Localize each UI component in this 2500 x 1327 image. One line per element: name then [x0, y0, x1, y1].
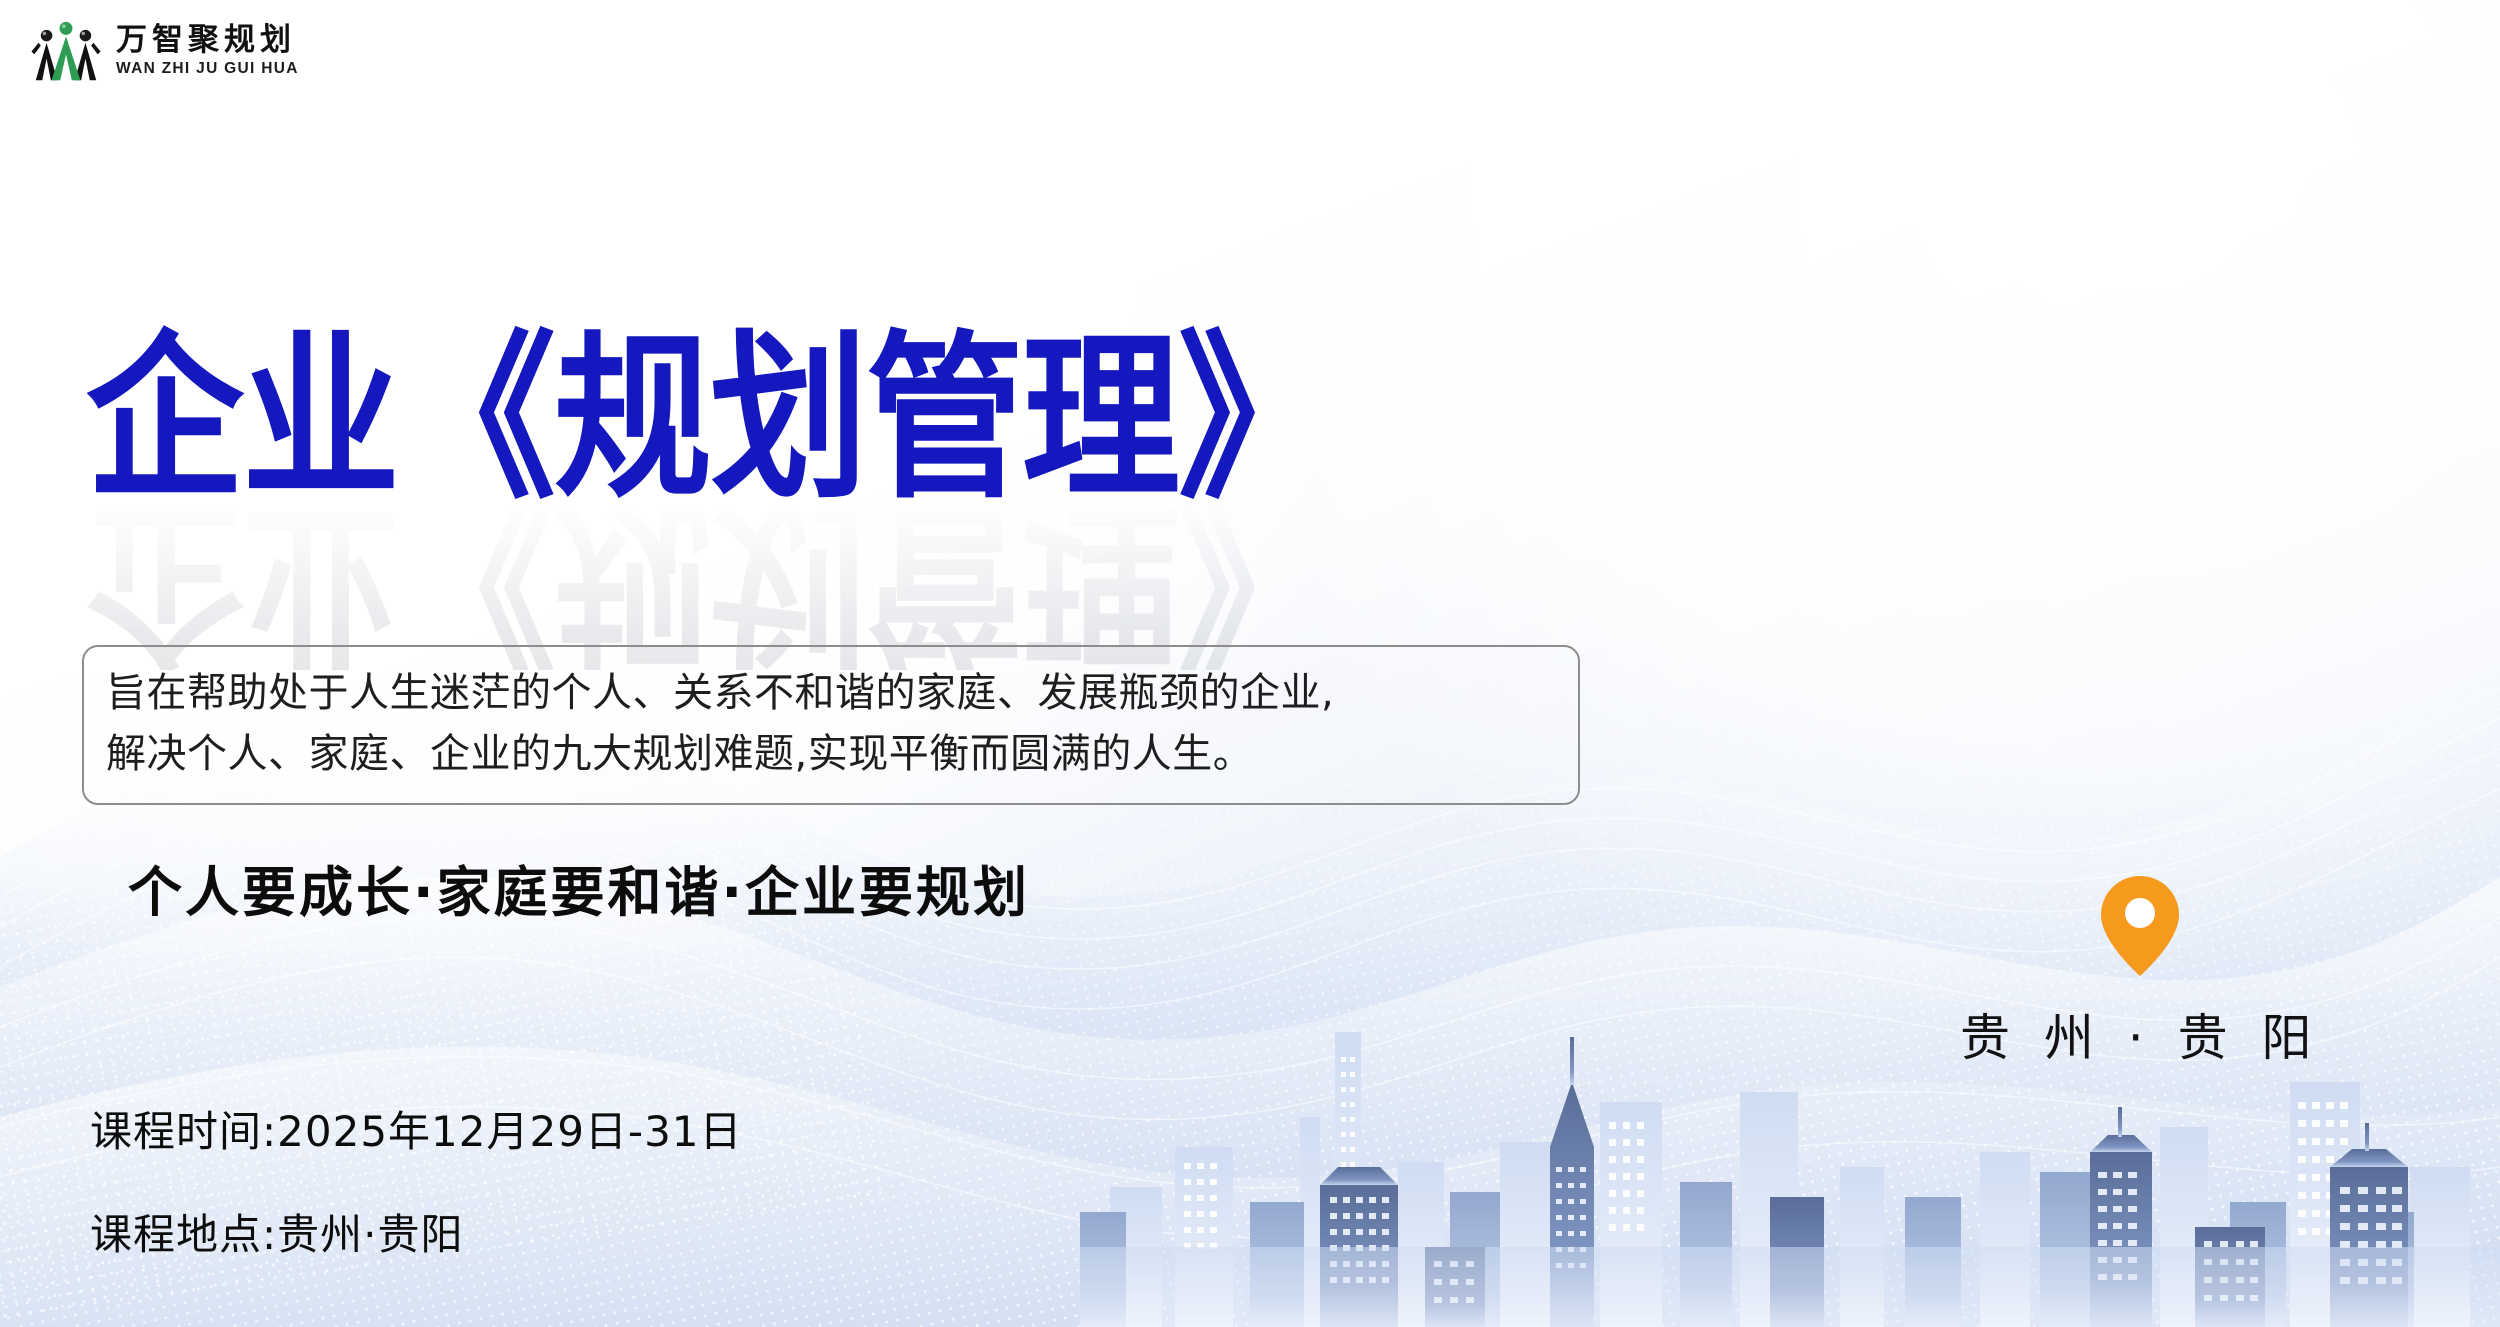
poster-canvas: 万智聚规划 WAN ZHI JU GUI HUA 企业《规划管理》 企业《规划管… [0, 0, 2500, 1327]
course-time-row: 课程时间:2025年12月29日-31日 [90, 1098, 743, 1159]
brand-name-cn: 万智聚规划 [116, 24, 299, 55]
three-people-logo-icon [30, 14, 102, 86]
location-label: 贵 州 · 贵 阳 [1960, 998, 2320, 1070]
brand-logo[interactable]: 万智聚规划 WAN ZHI JU GUI HUA [30, 14, 299, 86]
course-info: 课程时间:2025年12月29日-31日 课程地点:贵州·贵阳 [90, 1098, 743, 1262]
description-line-2: 解决个人、家庭、企业的九大规划难题,实现平衡而圆满的人生。 [106, 724, 1556, 785]
location-block: 贵 州 · 贵 阳 [1960, 872, 2320, 1070]
description-box: 旨在帮助处于人生迷茫的个人、关系不和谐的家庭、发展瓶颈的企业, 解决个人、家庭、… [82, 645, 1580, 805]
course-place-row: 课程地点:贵州·贵阳 [90, 1201, 743, 1262]
tagline: 个人要成长·家庭要和谐·企业要规划 [128, 848, 1030, 927]
glow-top-right [1200, 0, 2500, 1000]
brand-name-pinyin: WAN ZHI JU GUI HUA [116, 61, 299, 77]
description-line-1: 旨在帮助处于人生迷茫的个人、关系不和谐的家庭、发展瓶颈的企业, [106, 663, 1556, 724]
brand-text: 万智聚规划 WAN ZHI JU GUI HUA [116, 24, 299, 77]
title-reflection: 企业《规划管理》 [86, 491, 1334, 670]
map-pin-icon [2098, 872, 2182, 980]
page-title: 企业《规划管理》 [86, 330, 1334, 509]
